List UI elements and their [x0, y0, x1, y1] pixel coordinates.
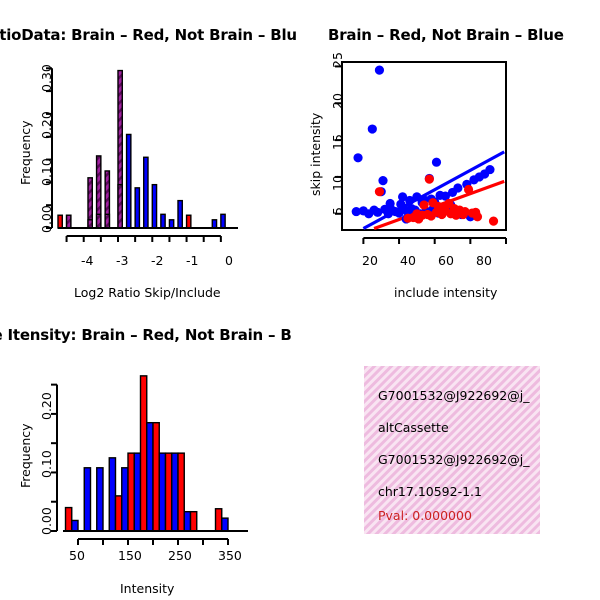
axes — [46, 68, 221, 242]
hist-bar-brain — [178, 453, 184, 531]
ratio-xtick-3: -1 — [186, 253, 198, 268]
hist-bar-not-brain — [169, 220, 173, 228]
scatter-xtick-3: 80 — [476, 253, 492, 268]
event-info-box: G7001532@J922692@j_ altCassette G7001532… — [364, 366, 540, 534]
intensity-xtick-6: 350 — [218, 548, 242, 563]
hist-bar-not-brain — [212, 220, 216, 228]
hist-bar-not-brain — [144, 157, 148, 228]
scatter-point — [375, 66, 384, 75]
scatter-point — [471, 208, 480, 217]
scatter-point — [378, 176, 387, 185]
ratio-histogram-xlabel: Log2 Ratio Skip/Include — [74, 285, 221, 300]
hist-bar-not-brain — [97, 214, 101, 228]
hist-bar-not-brain — [147, 423, 153, 531]
hist-bar-not-brain — [172, 453, 178, 531]
infobox-line-id-2: G7001532@J922692@j_ — [378, 452, 529, 467]
hist-bar-brain — [187, 215, 191, 228]
scatter-point — [368, 124, 377, 133]
hist-bar-not-brain — [127, 134, 131, 228]
scatter-plot — [300, 0, 600, 250]
hist-bar-not-brain — [109, 458, 115, 531]
ratio-xtick-1: -3 — [116, 253, 128, 268]
hist-bar-not-brain — [105, 214, 109, 228]
hist-bar-not-brain — [221, 214, 225, 228]
hist-bar-not-brain — [222, 518, 228, 531]
infobox-line-id-1: G7001532@J922692@j_ — [378, 388, 529, 403]
hist-bar-brain — [166, 453, 172, 531]
histogram-bars — [66, 376, 229, 531]
intensity-histogram-xlabel: Intensity — [120, 581, 174, 596]
scatter-point — [459, 210, 468, 219]
scatter-point — [405, 196, 414, 205]
hist-bar-not-brain — [67, 215, 71, 228]
hist-bar-not-brain — [118, 185, 122, 228]
scatter-point — [425, 175, 434, 184]
hist-bar-brain — [141, 376, 147, 531]
hist-bar-not-brain — [161, 214, 165, 228]
ratio-xtick-2: -2 — [151, 253, 163, 268]
scatter-point — [414, 214, 423, 223]
hist-bar-not-brain — [122, 468, 128, 531]
ratio-histogram-panel: RatioData: Brain – Red, Not Brain – Blu … — [0, 0, 300, 305]
hist-bar-not-brain — [97, 468, 103, 531]
hist-bar-not-brain — [178, 201, 182, 228]
scatter-point — [464, 185, 473, 194]
histogram-bars — [58, 71, 225, 228]
intensity-xtick-4: 250 — [168, 548, 192, 563]
ratio-xtick-4: 0 — [225, 253, 233, 268]
scatter-point — [396, 200, 405, 209]
ratio-histogram-plot — [0, 0, 300, 250]
intensity-histogram-plot — [0, 300, 300, 545]
scatter-panel: Brain – Red, Not Brain – Blue skip inten… — [300, 0, 600, 305]
scatter-xlabel: include intensity — [394, 285, 497, 300]
hist-bar-not-brain — [159, 453, 165, 531]
scatter-xtick-2: 60 — [438, 253, 454, 268]
hist-bar-brain — [153, 423, 159, 531]
intensity-histogram-panel: ne Itensity: Brain – Red, Not Brain – B … — [0, 300, 300, 600]
hist-bar-brain — [116, 496, 122, 531]
scatter-xtick-1: 40 — [400, 253, 416, 268]
infobox-line-event: altCassette — [378, 420, 449, 435]
hist-bar-brain — [216, 509, 222, 531]
hist-bar-brain — [58, 215, 62, 228]
hist-bar-not-brain — [134, 453, 140, 531]
intensity-xtick-2: 150 — [118, 548, 142, 563]
scatter-point — [353, 153, 362, 162]
hist-bar-not-brain — [184, 512, 190, 531]
scatter-point — [485, 165, 494, 174]
infobox-line-locus: chr17.10592-1.1 — [378, 484, 482, 499]
hist-bar-brain — [128, 453, 134, 531]
ratio-xtick-0: -4 — [81, 253, 93, 268]
hist-bar-not-brain — [88, 220, 92, 228]
hist-bar-not-brain — [84, 468, 90, 531]
scatter-point — [375, 187, 384, 196]
scatter-xtick-0: 20 — [362, 253, 378, 268]
infobox-line-pval: Pval: 0.000000 — [378, 508, 472, 523]
hist-bar-not-brain — [72, 520, 78, 531]
scatter-point — [419, 200, 428, 209]
hist-bar-not-brain — [135, 188, 139, 228]
hist-bar-brain — [191, 512, 197, 531]
scatter-point — [432, 158, 441, 167]
hist-bar-brain — [66, 508, 72, 531]
scatter-point — [489, 217, 498, 226]
infobox-text-lines: G7001532@J922692@j_ altCassette G7001532… — [364, 366, 540, 534]
scatter-point — [386, 199, 395, 208]
scatter-point — [453, 183, 462, 192]
intensity-xtick-0: 50 — [69, 548, 85, 563]
hist-bar-not-brain — [152, 185, 156, 228]
